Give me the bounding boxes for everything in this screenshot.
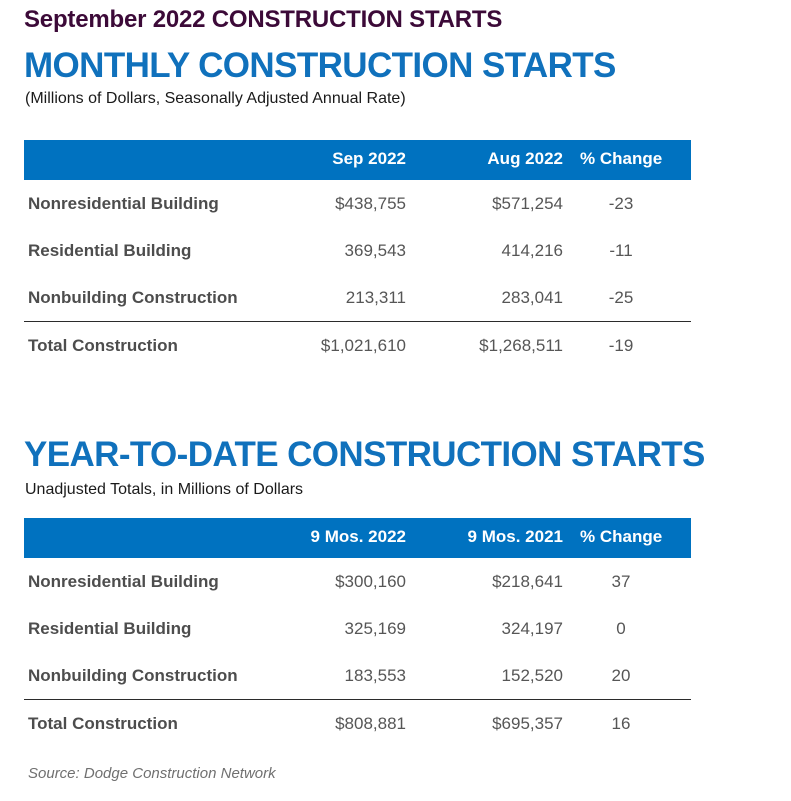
- total-value-aug-2022: $1,268,511: [428, 322, 580, 370]
- row-label: Nonbuilding Construction: [24, 274, 276, 322]
- total-value-sep-2022: $1,021,610: [276, 322, 428, 370]
- row-value-sep-2022: 369,543: [276, 227, 428, 274]
- table-row: Nonbuilding Construction 213,311 283,041…: [24, 274, 691, 322]
- total-row-label: Total Construction: [24, 322, 276, 370]
- section-heading-monthly: MONTHLY CONSTRUCTION STARTS: [24, 48, 616, 83]
- total-value-9-mos-2021: $695,357: [428, 700, 580, 748]
- row-value-sep-2022: $438,755: [276, 180, 428, 227]
- row-label: Nonresidential Building: [24, 180, 276, 227]
- row-value-pct-change: 0: [580, 605, 691, 652]
- column-header-pct-change: % Change: [580, 140, 691, 180]
- section-heading-year-to-date: YEAR-TO-DATE CONSTRUCTION STARTS: [24, 437, 705, 472]
- row-value-pct-change: -11: [580, 227, 691, 274]
- column-header-9-mos-2021: 9 Mos. 2021: [428, 518, 580, 558]
- row-label: Residential Building: [24, 605, 276, 652]
- table-header-row-ytd: 9 Mos. 2022 9 Mos. 2021 % Change: [24, 518, 691, 558]
- row-value-pct-change: 20: [580, 652, 691, 700]
- row-value-aug-2022: $571,254: [428, 180, 580, 227]
- row-value-aug-2022: 283,041: [428, 274, 580, 322]
- column-header-category: [24, 140, 276, 180]
- column-header-9-mos-2022: 9 Mos. 2022: [276, 518, 428, 558]
- total-value-pct-change: 16: [580, 700, 691, 748]
- table-row: Residential Building 369,543 414,216 -11: [24, 227, 691, 274]
- row-value-9-mos-2022: 183,553: [276, 652, 428, 700]
- table-row: Nonresidential Building $438,755 $571,25…: [24, 180, 691, 227]
- column-header-pct-change: % Change: [580, 518, 691, 558]
- table-total-row: Total Construction $1,021,610 $1,268,511…: [24, 322, 691, 370]
- total-row-label: Total Construction: [24, 700, 276, 748]
- row-value-9-mos-2022: $300,160: [276, 558, 428, 605]
- section-subtitle-monthly: (Millions of Dollars, Seasonally Adjuste…: [25, 90, 406, 108]
- column-header-sep-2022: Sep 2022: [276, 140, 428, 180]
- report-title: September 2022 CONSTRUCTION STARTS: [24, 6, 502, 34]
- row-label: Nonresidential Building: [24, 558, 276, 605]
- total-value-9-mos-2022: $808,881: [276, 700, 428, 748]
- row-value-9-mos-2021: 324,197: [428, 605, 580, 652]
- row-value-9-mos-2021: $218,641: [428, 558, 580, 605]
- total-value-pct-change: -19: [580, 322, 691, 370]
- row-value-sep-2022: 213,311: [276, 274, 428, 322]
- table-header-row-monthly: Sep 2022 Aug 2022 % Change: [24, 140, 691, 180]
- row-value-aug-2022: 414,216: [428, 227, 580, 274]
- table-total-row: Total Construction $808,881 $695,357 16: [24, 700, 691, 748]
- row-label: Nonbuilding Construction: [24, 652, 276, 700]
- section-subtitle-year-to-date: Unadjusted Totals, in Millions of Dollar…: [25, 481, 303, 499]
- monthly-construction-starts-table: Sep 2022 Aug 2022 % Change Nonresidentia…: [24, 140, 691, 369]
- row-value-pct-change: -25: [580, 274, 691, 322]
- row-value-9-mos-2021: 152,520: [428, 652, 580, 700]
- table-row: Residential Building 325,169 324,197 0: [24, 605, 691, 652]
- table-row: Nonbuilding Construction 183,553 152,520…: [24, 652, 691, 700]
- row-value-pct-change: -23: [580, 180, 691, 227]
- row-label: Residential Building: [24, 227, 276, 274]
- year-to-date-construction-starts-table: 9 Mos. 2022 9 Mos. 2021 % Change Nonresi…: [24, 518, 691, 747]
- row-value-pct-change: 37: [580, 558, 691, 605]
- report-page: September 2022 CONSTRUCTION STARTS MONTH…: [0, 0, 791, 801]
- source-note: Source: Dodge Construction Network: [28, 765, 276, 782]
- column-header-aug-2022: Aug 2022: [428, 140, 580, 180]
- column-header-category: [24, 518, 276, 558]
- table-row: Nonresidential Building $300,160 $218,64…: [24, 558, 691, 605]
- row-value-9-mos-2022: 325,169: [276, 605, 428, 652]
